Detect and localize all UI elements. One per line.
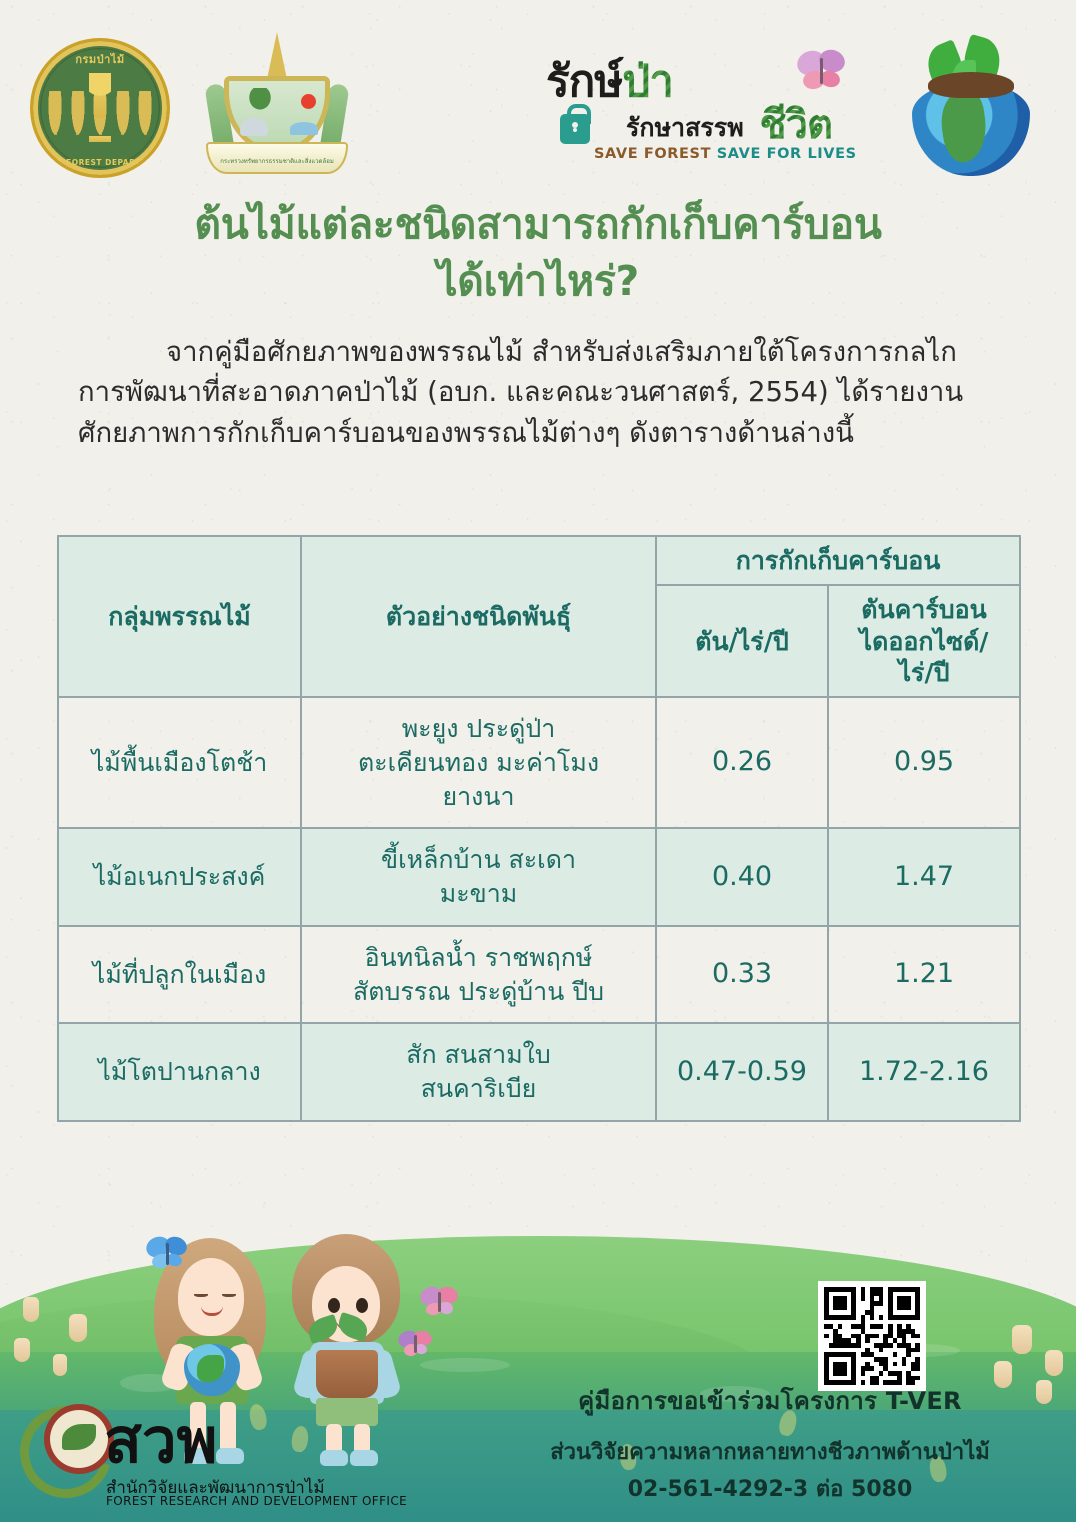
mushroom-icon: [978, 1330, 1028, 1388]
col-header-co2-per-rai-year: ตันคาร์บอน ไดออกไซด์/ ไร่/ปี: [828, 585, 1020, 697]
col-header-ton-per-rai-year: ตัน/ไร่/ปี: [656, 585, 828, 697]
emblem-tree-icon: [247, 88, 273, 112]
intro-paragraph: จากคู่มือศักยภาพของพรรณไม้ สำหรับส่งเสริ…: [78, 332, 1003, 453]
carbon-storage-table: กลุ่มพรรณไม้ ตัวอย่างชนิดพันธุ์ การกักเก…: [57, 535, 1021, 1122]
cell-group: ไม้พื้นเมืองโตช้า: [58, 697, 301, 828]
cell-species: พะยูง ประดู่ป่า ตะเคียนทอง มะค่าโมง ยางน…: [301, 697, 656, 828]
rfd-seal-english-label: ROYAL FOREST DEPARTMENT: [33, 158, 167, 167]
campaign-rak-text: รักษ์: [546, 56, 622, 107]
emblem-water-icon: [290, 122, 318, 135]
col-header-group: กลุ่มพรรณไม้: [58, 536, 301, 697]
girl-eye-right: [222, 1292, 236, 1297]
emblem-sun-icon: [301, 94, 316, 109]
butterfly-icon: [795, 48, 847, 94]
footer-division-line: ส่วนวิจัยความหลากหลายทางชีวภาพด้านป่าไม้: [490, 1434, 1050, 1469]
emblem-ribbon-label: กระทรวงทรัพยากรธรรมชาติและสิ่งแวดล้อม: [206, 142, 348, 174]
rfd-seal-deity-icon: [89, 73, 111, 145]
page-title-line1: ต้นไม้แต่ละชนิดสามารถกักเก็บคาร์บอน: [60, 196, 1016, 253]
qr-code-matrix: [824, 1287, 920, 1385]
lock-icon: [560, 114, 590, 144]
campaign-line1: รักษ์ป่า: [546, 46, 673, 116]
species-line: พะยูง ประดู่ป่า: [402, 714, 556, 743]
species-line: อินทนิลน้ำ ราชพฤกษ์: [365, 943, 593, 972]
cell-ton-per-rai-year: 0.33: [656, 926, 828, 1024]
emblem-elephant-icon: [240, 118, 268, 136]
rfd-seal-thai-label: กรมป่าไม้: [33, 50, 167, 68]
campaign-english-tagline: SAVE FOREST SAVE FOR LIVES: [594, 146, 857, 162]
butterfly-icon: [396, 1328, 436, 1362]
frdo-acronym: สวพ: [104, 1412, 218, 1471]
cell-ton-per-rai-year: 0.40: [656, 828, 828, 926]
cell-species: ขี้เหล็กบ้าน สะเดา มะขาม: [301, 828, 656, 926]
cell-ton-per-rai-year: 0.26: [656, 697, 828, 828]
table-row: ไม้โตปานกลาง สัก สนสามใบ สนคาริเบีย 0.47…: [58, 1023, 1020, 1121]
page-title-line2: ได้เท่าไหร่?: [60, 253, 1016, 310]
frdo-logo: สวพ สำนักวิจัยและพัฒนาการป่าไม้ FOREST R…: [18, 1404, 318, 1514]
header-logo-bar: กรมป่าไม้ ROYAL FOREST DEPARTMENT กระทรว…: [0, 0, 1076, 185]
col-header-carbon-storage: การกักเก็บคาร์บอน: [656, 536, 1020, 585]
cell-group: ไม้อเนกประสงค์: [58, 828, 301, 926]
species-line: มะขาม: [440, 879, 518, 908]
cell-ton-per-rai-year: 0.47-0.59: [656, 1023, 828, 1121]
earth-sprout-icon: [906, 38, 1036, 178]
cell-species: สัก สนสามใบ สนคาริเบีย: [301, 1023, 656, 1121]
species-line: ตะเคียนทอง มะค่าโมง: [358, 748, 599, 777]
footer-contact-block: คู่มือการขอเข้าร่วมโครงการ T-VER ส่วนวิจ…: [490, 1381, 1050, 1506]
cell-co2-per-rai-year: 0.95: [828, 697, 1020, 828]
boy-shoe-left: [320, 1450, 348, 1466]
royal-forest-department-seal: กรมป่าไม้ ROYAL FOREST DEPARTMENT: [30, 38, 170, 178]
cell-co2-per-rai-year: 1.21: [828, 926, 1020, 1024]
table-row: ไม้ที่ปลูกในเมือง อินทนิลน้ำ ราชพฤกษ์ สั…: [58, 926, 1020, 1024]
table-body: ไม้พื้นเมืองโตช้า พะยูง ประดู่ป่า ตะเคีย…: [58, 697, 1020, 1121]
table-header-row-group: กลุ่มพรรณไม้ ตัวอย่างชนิดพันธุ์ การกักเก…: [58, 536, 1020, 585]
girl-eye-left: [194, 1292, 208, 1297]
page-title: ต้นไม้แต่ละชนิดสามารถกักเก็บคาร์บอน ได้เ…: [60, 196, 1016, 309]
species-line: สัก สนสามใบ: [406, 1040, 551, 1069]
boy-shorts: [316, 1398, 378, 1426]
species-line: ขี้เหล็กบ้าน สะเดา: [381, 845, 576, 874]
col-header-co2-line2: ไดออกไซด์/: [860, 627, 989, 656]
footer-phone-line: 02-561-4292-3 ต่อ 5080: [490, 1471, 1050, 1506]
species-line: สัตบรรณ ประดู่บ้าน ปีบ: [353, 977, 604, 1006]
campaign-english-a: SAVE FOREST: [594, 146, 711, 162]
flower-pot-icon: [316, 1350, 378, 1398]
cell-group: ไม้โตปานกลาง: [58, 1023, 301, 1121]
col-header-species: ตัวอย่างชนิดพันธุ์: [301, 536, 656, 697]
col-header-co2-line3: ไร่/ปี: [898, 658, 949, 687]
boy-eye-right: [356, 1298, 368, 1313]
campaign-pa-text: ป่า: [622, 56, 673, 107]
cell-co2-per-rai-year: 1.47: [828, 828, 1020, 926]
soil-icon: [928, 72, 1014, 98]
cell-co2-per-rai-year: 1.72-2.16: [828, 1023, 1020, 1121]
butterfly-icon: [418, 1284, 462, 1322]
campaign-line2: รักษาสรรพ: [626, 108, 744, 148]
mushroom-icon: [40, 1328, 80, 1376]
boy-eye-left: [328, 1298, 340, 1313]
emblem-shield-icon: [224, 76, 330, 152]
butterfly-icon: [144, 1234, 190, 1274]
campaign-english-b: SAVE FOR LIVES: [717, 146, 857, 162]
cell-group: ไม้ที่ปลูกในเมือง: [58, 926, 301, 1024]
table-row: ไม้พื้นเมืองโตช้า พะยูง ประดู่ป่า ตะเคีย…: [58, 697, 1020, 828]
ministry-emblem: กระทรวงทรัพยากรธรรมชาติและสิ่งแวดล้อม: [202, 32, 352, 182]
species-line: ยางนา: [442, 782, 514, 811]
mushroom-icon: [0, 1310, 44, 1362]
footer-manual-line: คู่มือการขอเข้าร่วมโครงการ T-VER: [490, 1381, 1050, 1420]
table-row: ไม้อเนกประสงค์ ขี้เหล็กบ้าน สะเดา มะขาม …: [58, 828, 1020, 926]
frdo-english-name: FOREST RESEARCH AND DEVELOPMENT OFFICE: [106, 1494, 407, 1508]
species-line: สนคาริเบีย: [421, 1074, 537, 1103]
qr-code[interactable]: [818, 1281, 926, 1391]
cell-species: อินทนิลน้ำ ราชพฤกษ์ สัตบรรณ ประดู่บ้าน ป…: [301, 926, 656, 1024]
table-head: กลุ่มพรรณไม้ ตัวอย่างชนิดพันธุ์ การกักเก…: [58, 536, 1020, 697]
col-header-co2-line1: ตันคาร์บอน: [861, 595, 987, 624]
boy-shoe-right: [350, 1450, 378, 1466]
campaign-logo: รักษ์ป่า ชีวิต รักษาสรรพ SAVE FOREST SAV…: [540, 42, 840, 172]
